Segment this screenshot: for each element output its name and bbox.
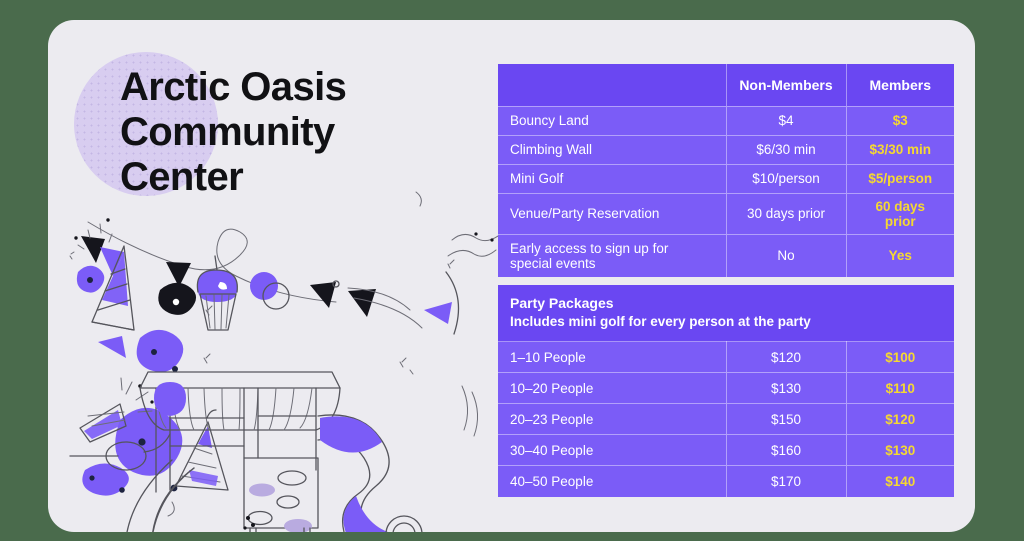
table-row: 30–40 People $160 $130 — [498, 435, 954, 466]
package-non-member-price: $170 — [726, 466, 846, 497]
package-member-price: $100 — [846, 342, 954, 373]
benefit-member-value: $3 — [846, 106, 954, 135]
benefit-non-member-value: 30 days prior — [726, 193, 846, 234]
benefits-header-non-members: Non-Members — [726, 64, 846, 106]
table-row: Climbing Wall $6/30 min $3/30 min — [498, 135, 954, 164]
package-member-price: $130 — [846, 435, 954, 466]
benefit-member-value: 60 days prior — [846, 193, 954, 234]
table-row: Bouncy Land $4 $3 — [498, 106, 954, 135]
benefit-member-value: Yes — [846, 234, 954, 277]
page-title: Arctic Oasis Community Center — [120, 65, 450, 199]
package-member-price: $110 — [846, 373, 954, 404]
table-row: Early access to sign up for special even… — [498, 234, 954, 277]
poster-card: Arctic Oasis Community Center — [48, 20, 975, 532]
benefit-label: Bouncy Land — [498, 106, 726, 135]
benefit-label: Venue/Party Reservation — [498, 193, 726, 234]
package-label: 20–23 People — [498, 404, 726, 435]
benefits-header-row: Non-Members Members — [498, 64, 954, 106]
tables-panel: Non-Members Members Bouncy Land $4 $3 Cl… — [498, 64, 954, 497]
benefit-non-member-value: $6/30 min — [726, 135, 846, 164]
party-playground-illustration — [48, 190, 498, 532]
package-non-member-price: $160 — [726, 435, 846, 466]
packages-banner-row: Party Packages Includes mini golf for ev… — [498, 285, 954, 342]
benefit-non-member-value: $10/person — [726, 164, 846, 193]
table-row: 10–20 People $130 $110 — [498, 373, 954, 404]
package-non-member-price: $120 — [726, 342, 846, 373]
package-label: 40–50 People — [498, 466, 726, 497]
table-row: 1–10 People $120 $100 — [498, 342, 954, 373]
package-label: 30–40 People — [498, 435, 726, 466]
table-row: Venue/Party Reservation 30 days prior 60… — [498, 193, 954, 234]
package-non-member-price: $150 — [726, 404, 846, 435]
package-member-price: $120 — [846, 404, 954, 435]
membership-benefits-table: Non-Members Members Bouncy Land $4 $3 Cl… — [498, 64, 954, 277]
cupcake — [197, 256, 237, 330]
party-packages-subtitle: Includes mini golf for every person at t… — [510, 313, 942, 331]
benefit-label: Climbing Wall — [498, 135, 726, 164]
left-panel: Arctic Oasis Community Center — [48, 20, 498, 532]
benefit-label: Early access to sign up for special even… — [498, 234, 726, 277]
package-member-price: $140 — [846, 466, 954, 497]
party-packages-banner: Party Packages Includes mini golf for ev… — [498, 285, 954, 342]
package-label: 1–10 People — [498, 342, 726, 373]
table-row: 40–50 People $170 $140 — [498, 466, 954, 497]
benefit-non-member-value: $4 — [726, 106, 846, 135]
benefits-header-members: Members — [846, 64, 954, 106]
party-packages-table: Party Packages Includes mini golf for ev… — [498, 285, 954, 497]
table-row: Mini Golf $10/person $5/person — [498, 164, 954, 193]
benefit-member-value: $5/person — [846, 164, 954, 193]
table-row: 20–23 People $150 $120 — [498, 404, 954, 435]
package-label: 10–20 People — [498, 373, 726, 404]
right-decor — [416, 192, 498, 436]
benefit-non-member-value: No — [726, 234, 846, 277]
package-non-member-price: $130 — [726, 373, 846, 404]
benefits-header-blank — [498, 64, 726, 106]
party-packages-title: Party Packages — [510, 295, 942, 313]
benefit-label: Mini Golf — [498, 164, 726, 193]
benefit-member-value: $3/30 min — [846, 135, 954, 164]
